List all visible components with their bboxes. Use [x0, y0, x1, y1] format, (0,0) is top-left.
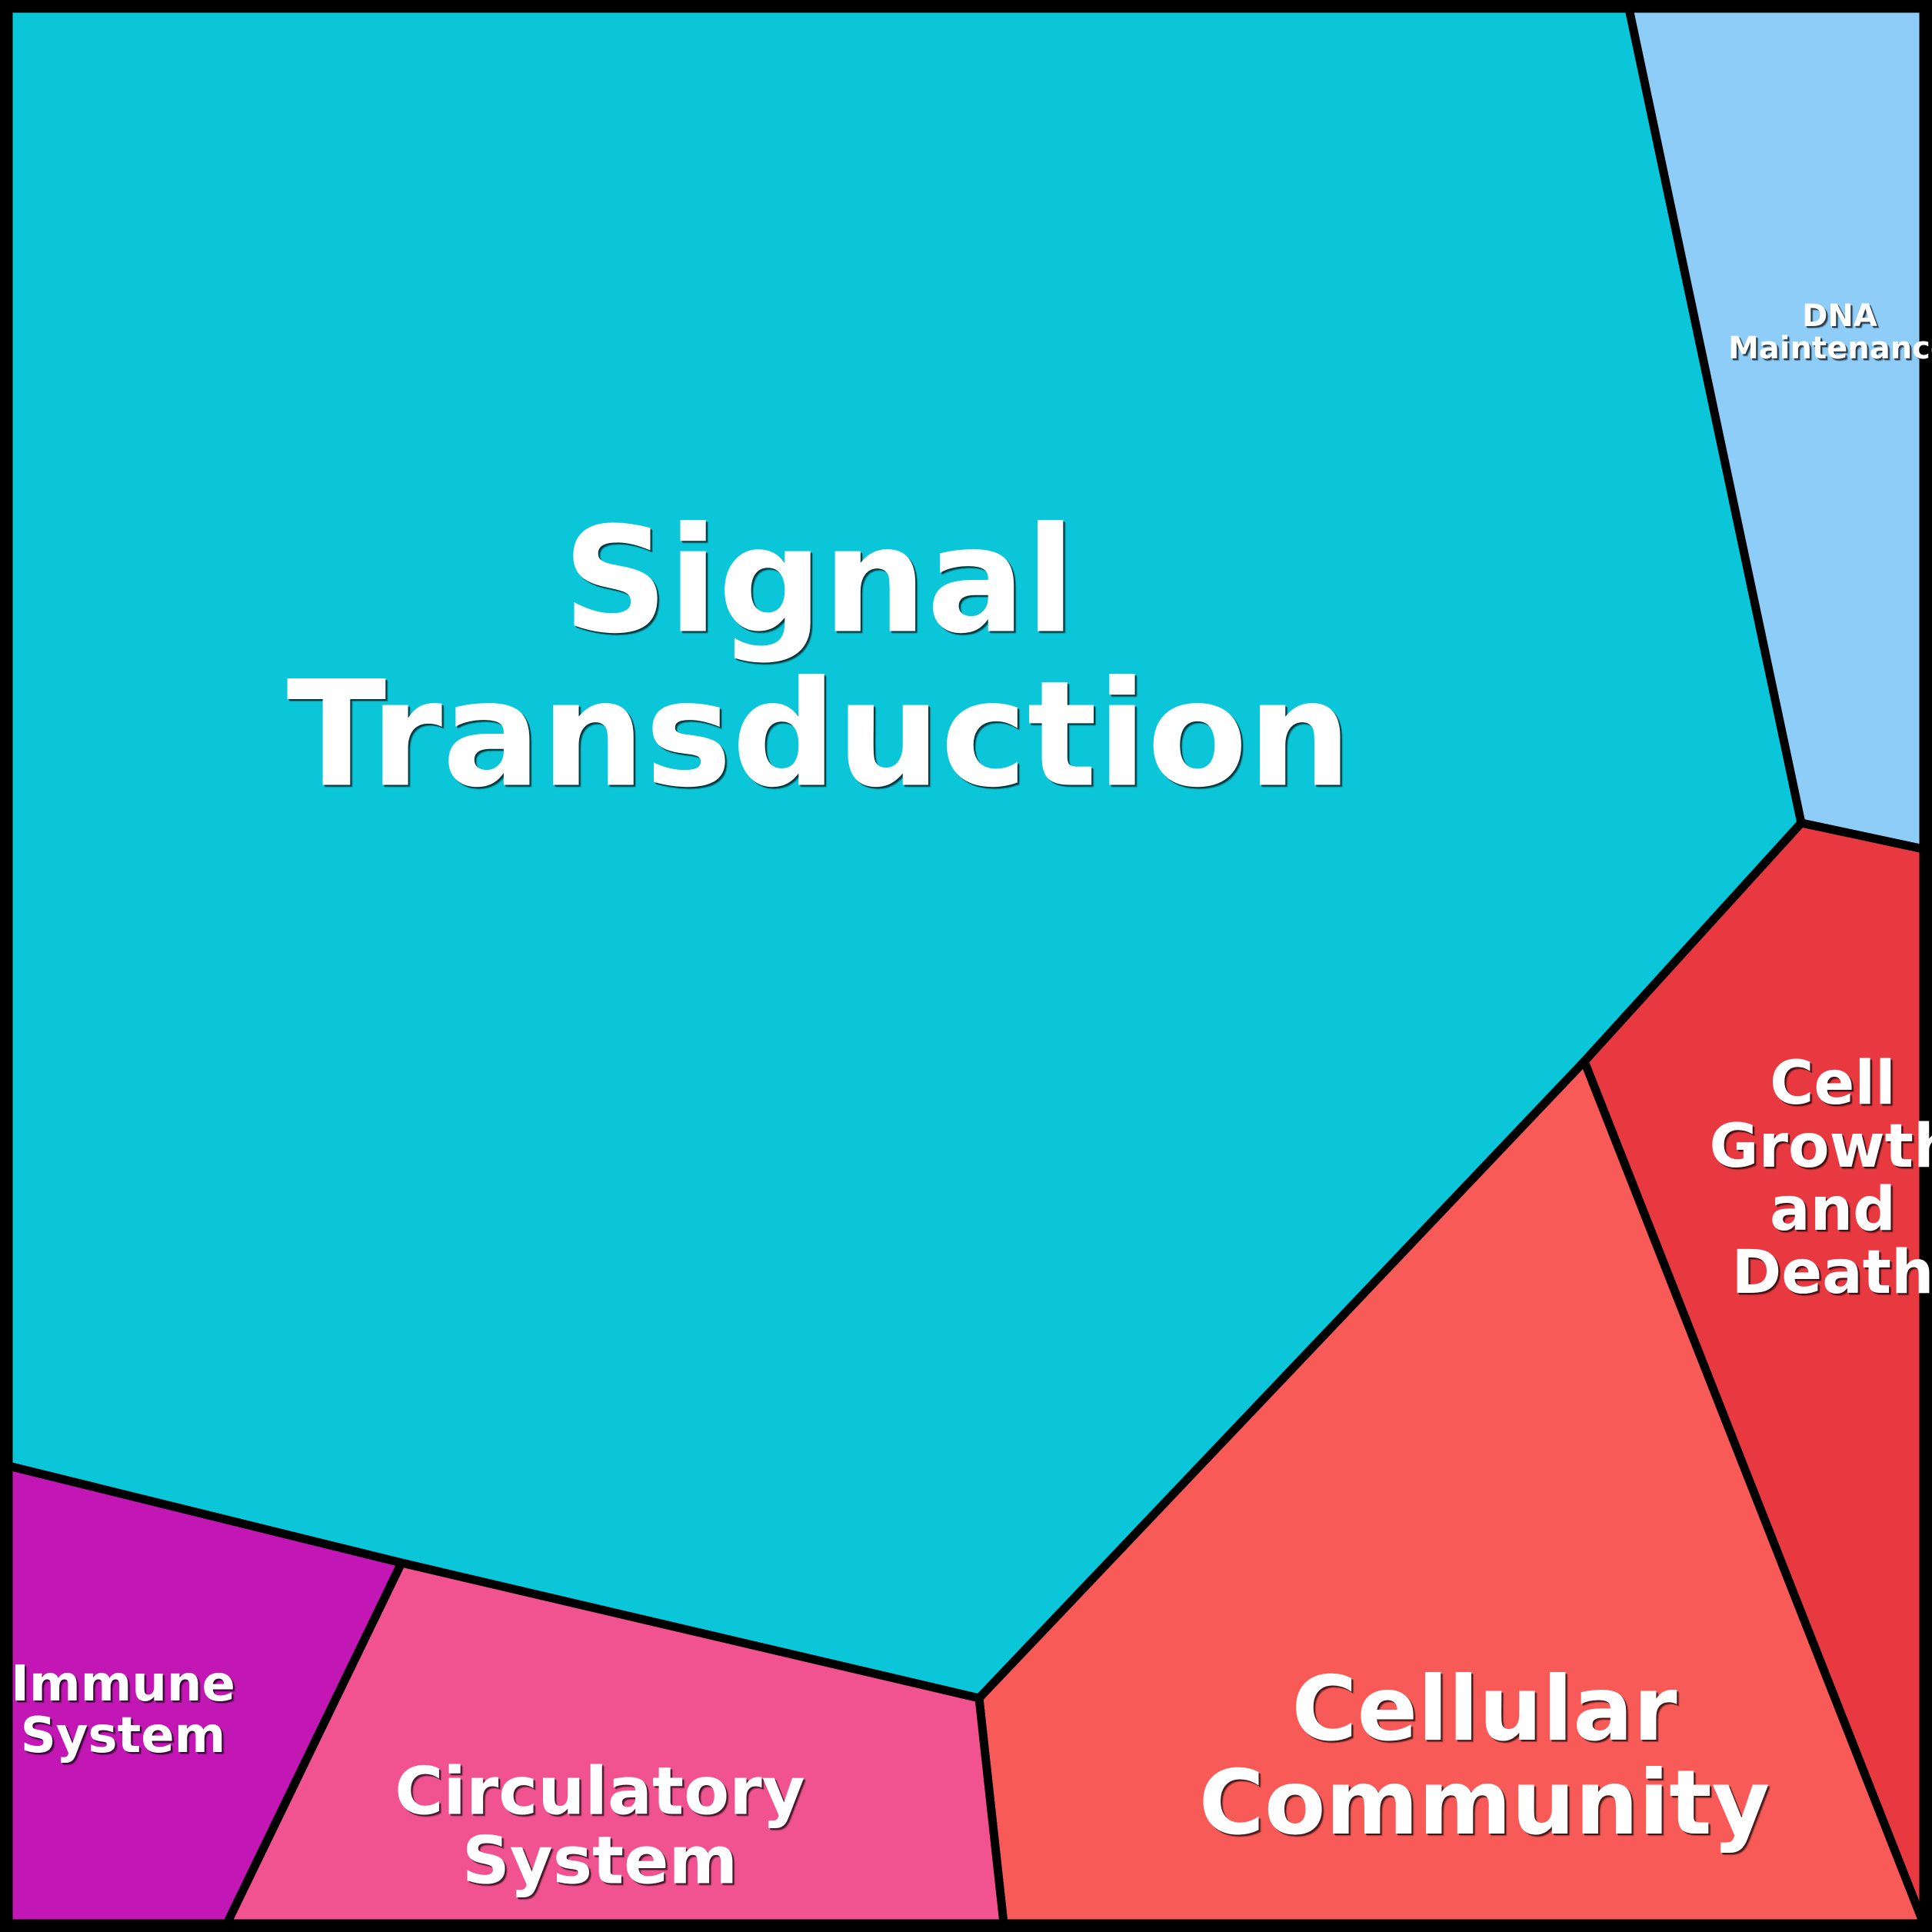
- cells-group: [8, 8, 1924, 1924]
- voronoi-treemap-figure: Signal TransductionDNA MaintenanceCell G…: [0, 0, 1932, 1932]
- voronoi-cells-svg: [0, 0, 1932, 1932]
